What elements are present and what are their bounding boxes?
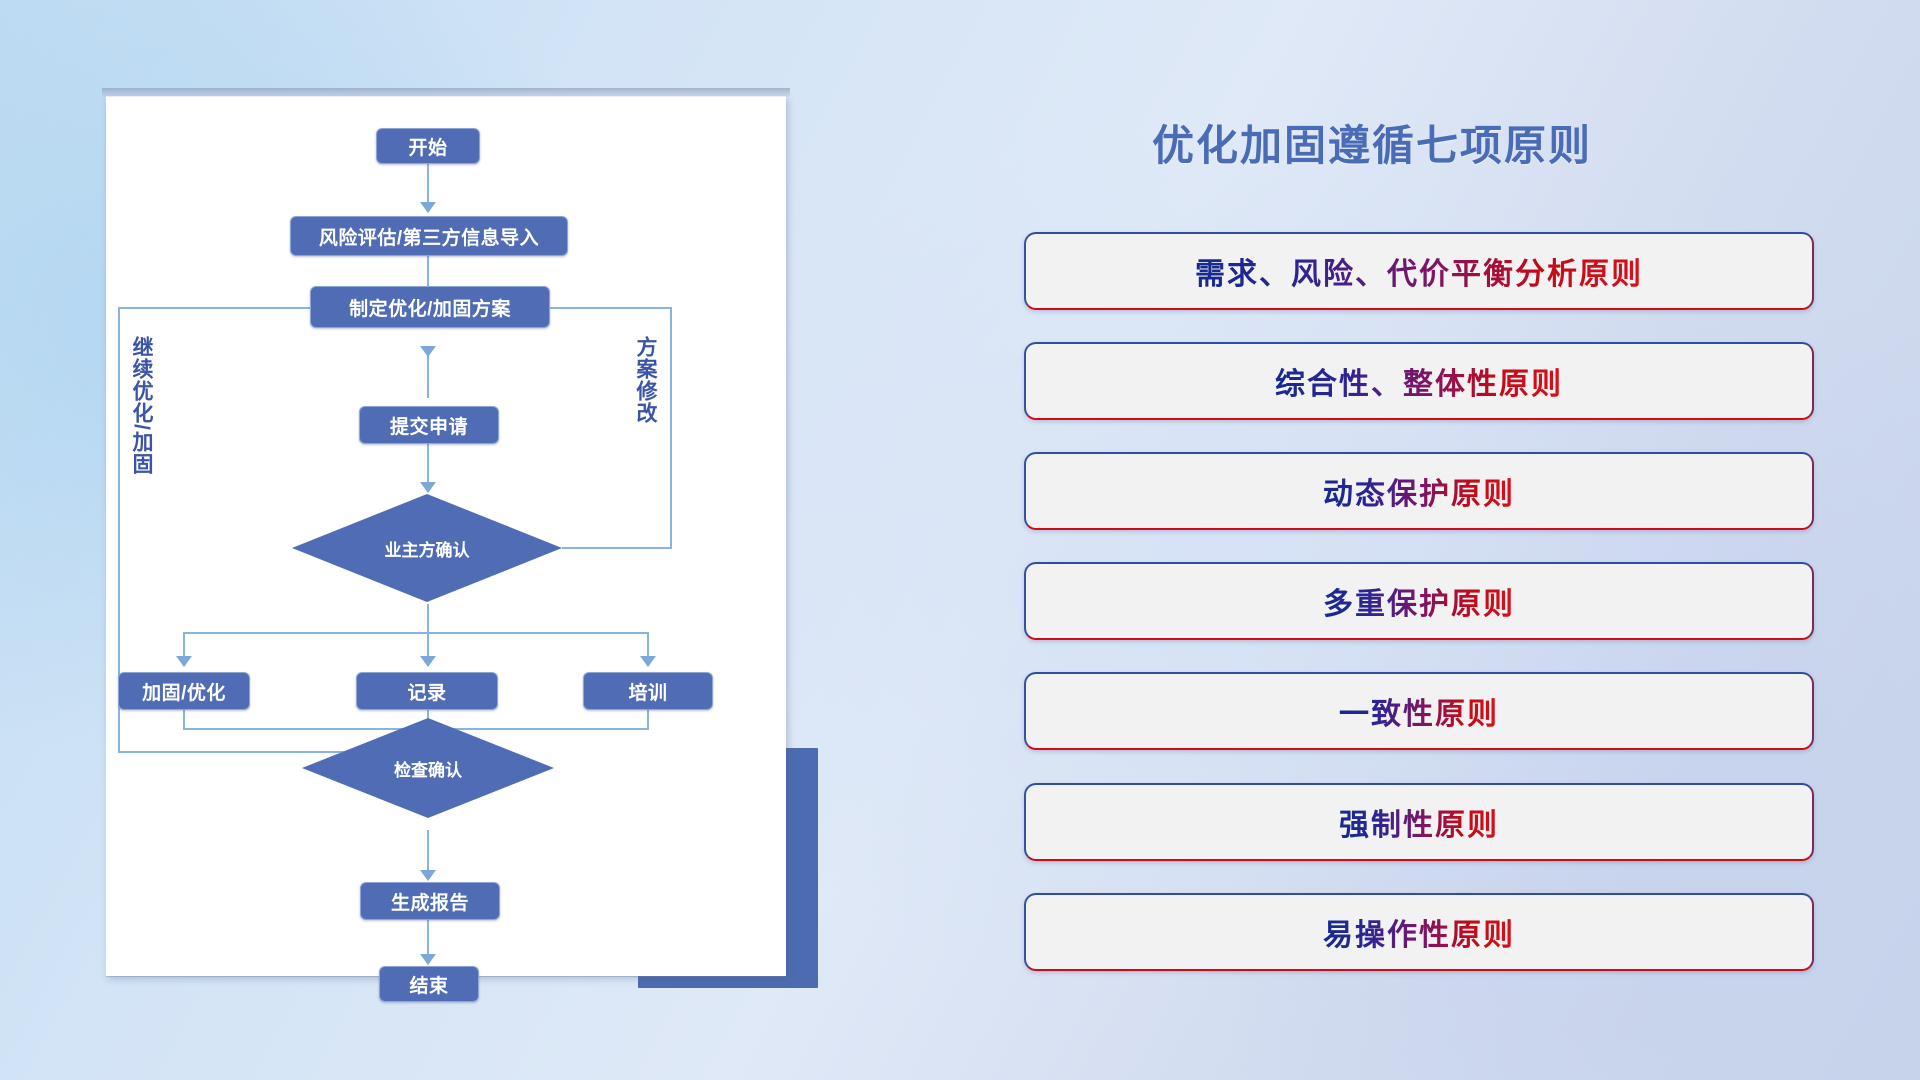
- arrowhead-plan-submit: [420, 346, 436, 357]
- principle-card-2-label: 综合性、整体性原则: [1275, 359, 1563, 403]
- principle-card-5[interactable]: 一致性原则: [1024, 672, 1814, 750]
- principle-card-1[interactable]: 需求、风险、代价平衡分析原则: [1024, 232, 1814, 310]
- flow-node-plan-label: 制定优化/加固方案: [349, 294, 511, 321]
- flow-node-record[interactable]: 记录: [356, 672, 498, 710]
- arrowhead-branch-mid: [420, 656, 436, 667]
- arrowhead-submit-owner: [420, 482, 436, 493]
- flow-node-start-label: 开始: [408, 133, 447, 160]
- flow-node-start[interactable]: 开始: [376, 128, 480, 164]
- arrowhead-check-report: [420, 870, 436, 881]
- connector-check-left: [118, 751, 378, 753]
- principle-card-6-label: 强制性原则: [1339, 800, 1499, 844]
- edge-label-continue-optimize: 继续优化/加固: [130, 336, 152, 475]
- principle-card-3[interactable]: 动态保护原则: [1024, 452, 1814, 530]
- principle-card-1-label: 需求、风险、代价平衡分析原则: [1195, 249, 1643, 293]
- principle-card-2[interactable]: 综合性、整体性原则: [1024, 342, 1814, 420]
- flow-node-submit-application[interactable]: 提交申请: [359, 406, 499, 444]
- principles-title: 优化加固遵循七项原则: [1152, 112, 1592, 173]
- principle-card-5-label: 一致性原则: [1339, 689, 1499, 733]
- flowchart-card: 开始 风险评估/第三方信息导入 制定优化/加固方案 提交申请 业主方确认 加固/…: [106, 96, 786, 976]
- flow-node-end-label: 结束: [409, 971, 448, 998]
- flow-node-reinforce-label: 加固/优化: [142, 678, 226, 705]
- flow-node-training-label: 培训: [628, 678, 667, 705]
- flow-node-end[interactable]: 结束: [379, 966, 479, 1002]
- flow-node-submit-application-label: 提交申请: [390, 412, 468, 439]
- arrowhead-report-end: [420, 954, 436, 965]
- connector-owner-right: [562, 547, 672, 549]
- flow-decision-owner-confirm[interactable]: 业主方确认: [292, 494, 562, 602]
- flowchart-panel: 开始 风险评估/第三方信息导入 制定优化/加固方案 提交申请 业主方确认 加固/…: [0, 0, 840, 1080]
- flow-decision-owner-confirm-label: 业主方确认: [385, 536, 470, 561]
- flow-node-record-label: 记录: [407, 678, 446, 705]
- flow-node-generate-report[interactable]: 生成报告: [360, 882, 500, 920]
- edge-label-plan-revision: 方案修改: [634, 336, 656, 424]
- connector-branch-bus: [183, 632, 649, 634]
- flow-node-reinforce[interactable]: 加固/优化: [118, 672, 250, 710]
- principle-card-7[interactable]: 易操作性原则: [1024, 893, 1814, 971]
- flow-node-risk-assessment-label: 风险评估/第三方信息导入: [319, 223, 539, 250]
- connector-plan-submit: [427, 350, 429, 398]
- flow-node-plan[interactable]: 制定优化/加固方案: [310, 286, 550, 328]
- arrowhead-start-risk: [420, 202, 436, 213]
- connector-start-risk: [427, 160, 429, 206]
- connector-right-up: [670, 308, 672, 549]
- flow-decision-check-confirm[interactable]: 检查确认: [302, 718, 554, 818]
- principle-card-3-label: 动态保护原则: [1323, 469, 1515, 513]
- connector-merge-left: [183, 708, 185, 730]
- principle-card-4[interactable]: 多重保护原则: [1024, 562, 1814, 640]
- flow-decision-check-confirm-label: 检查确认: [394, 756, 462, 781]
- connector-merge-right: [647, 708, 649, 730]
- principle-card-7-label: 易操作性原则: [1323, 910, 1515, 954]
- connector-owner-down: [427, 604, 429, 634]
- arrowhead-branch-right: [640, 656, 656, 667]
- principle-card-6[interactable]: 强制性原则: [1024, 783, 1814, 861]
- flow-node-generate-report-label: 生成报告: [391, 888, 469, 915]
- flow-node-risk-assessment[interactable]: 风险评估/第三方信息导入: [290, 216, 568, 256]
- flow-node-training[interactable]: 培训: [583, 672, 713, 710]
- principles-panel: 优化加固遵循七项原则 需求、风险、代价平衡分析原则 综合性、整体性原则 动态保护…: [1000, 0, 1920, 1080]
- arrowhead-branch-left: [176, 656, 192, 667]
- principle-card-4-label: 多重保护原则: [1323, 579, 1515, 623]
